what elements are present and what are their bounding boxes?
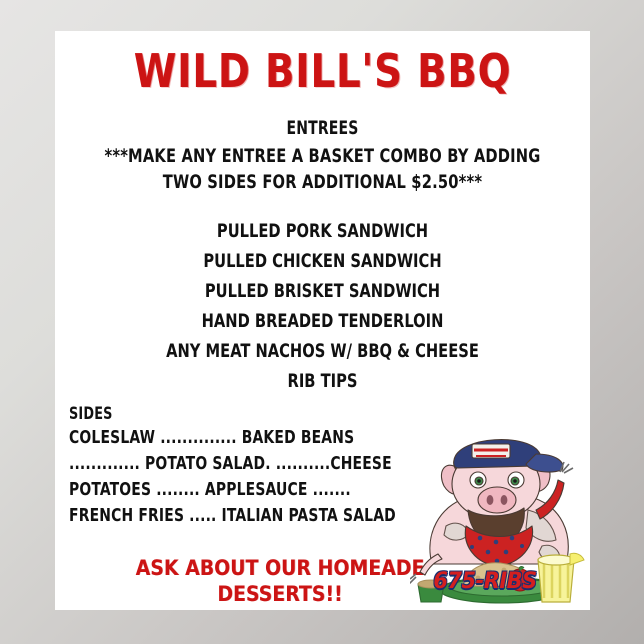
entrees-heading: ENTREES	[103, 117, 542, 139]
list-item: PULLED PORK SANDWICH	[92, 216, 552, 246]
list-item: HAND BREADED TENDERLOIN	[92, 306, 552, 336]
list-item: PULLED BRISKET SANDWICH	[92, 276, 552, 306]
list-item: RIB TIPS	[92, 366, 552, 396]
poster-panel: WILD BILL'S BBQ ENTREES ***MAKE ANY ENTR…	[55, 31, 590, 610]
phone-number: 675-RIBS	[409, 569, 561, 595]
sides-list: COLESLAW .............. BAKED BEANS ....…	[69, 425, 413, 529]
entree-list: PULLED PORK SANDWICH PULLED CHICKEN SAND…	[55, 216, 590, 396]
page-title: WILD BILL'S BBQ	[74, 45, 572, 97]
list-item: ANY MEAT NACHOS W/ BBQ & CHEESE	[92, 336, 552, 366]
combo-note: ***MAKE ANY ENTREE A BASKET COMBO BY ADD…	[103, 143, 542, 195]
list-item: PULLED CHICKEN SANDWICH	[92, 246, 552, 276]
sides-heading: SIDES	[69, 404, 113, 425]
